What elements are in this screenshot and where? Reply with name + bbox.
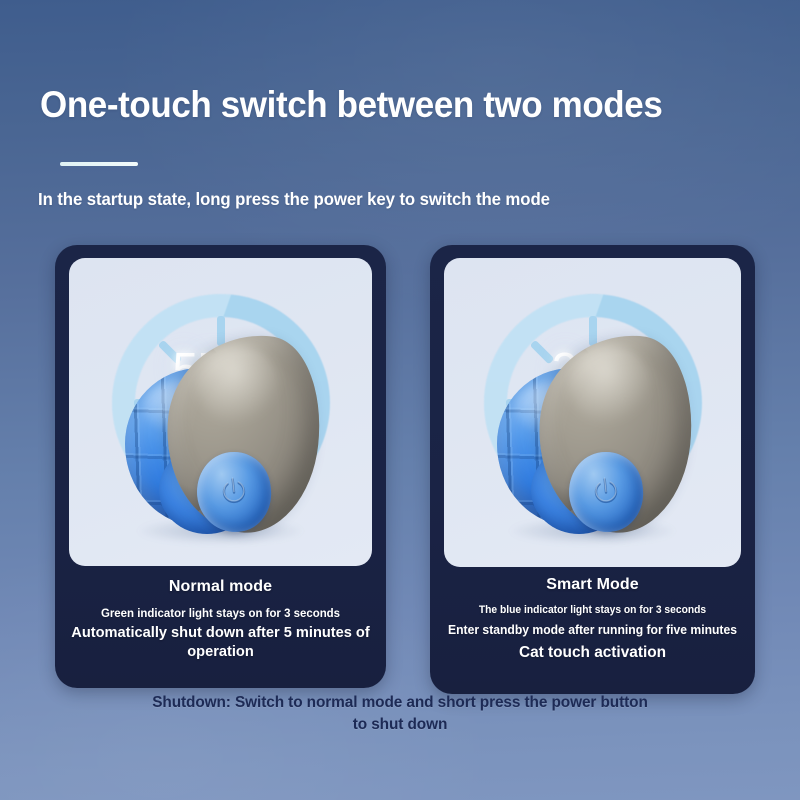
mode-description-line: The blue indicator light stays on for 3 … [435, 604, 750, 618]
cat-ball-product-image [123, 334, 319, 540]
title-accent-rule [60, 162, 138, 166]
mode-card-smart[interactable]: 24H [430, 245, 755, 694]
mode-description-line: Automatically shut down after 5 minutes … [55, 624, 386, 661]
card-text-normal: Normal mode Green indicator light stays … [55, 577, 386, 661]
card-text-smart: Smart Mode The blue indicator light stay… [430, 575, 755, 662]
page-title: One-touch switch between two modes [40, 83, 662, 127]
mode-description-line: Green indicator light stays on for 3 sec… [60, 606, 381, 621]
mode-description-line: Cat touch activation [430, 643, 755, 663]
shutdown-instruction: Shutdown: Switch to normal mode and shor… [0, 692, 800, 736]
mode-description-list: Green indicator light stays on for 3 sec… [55, 606, 386, 661]
power-icon [217, 474, 250, 509]
page-subtitle: In the startup state, long press the pow… [38, 188, 550, 210]
product-photo-normal: 5Min [69, 258, 372, 566]
power-icon [589, 475, 622, 510]
product-photo-smart: 24H [444, 258, 741, 567]
mode-description-list: The blue indicator light stays on for 3 … [430, 604, 755, 662]
mode-description-line: Enter standby mode after running for fiv… [436, 622, 750, 638]
mode-card-normal[interactable]: 5Min [55, 245, 386, 688]
cat-ball-product-image [495, 334, 691, 540]
mode-title: Normal mode [55, 577, 386, 597]
mode-title: Smart Mode [430, 575, 755, 595]
